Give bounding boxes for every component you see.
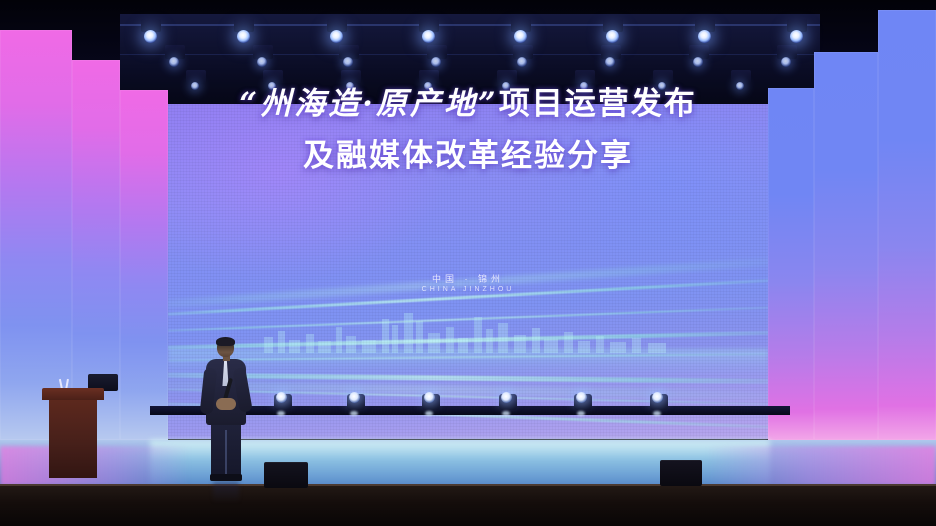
truss-light xyxy=(169,57,179,67)
stage-deck xyxy=(0,440,936,486)
stage-monitor xyxy=(264,462,308,488)
fixture-reflection xyxy=(277,411,285,416)
truss-light xyxy=(502,82,510,90)
fixture-reflection xyxy=(350,411,358,416)
fixture-reflection xyxy=(502,411,510,416)
right-led-panel xyxy=(814,52,878,440)
floor-wash-fixture xyxy=(572,392,594,412)
truss-light xyxy=(514,30,527,43)
presenter-hands xyxy=(216,398,236,410)
stage-front-edge xyxy=(0,484,936,526)
left-led-panel xyxy=(120,90,168,440)
left-led-panel xyxy=(0,30,72,440)
truss-light xyxy=(698,30,711,43)
truss-light xyxy=(658,82,666,90)
speaker-podium xyxy=(42,388,104,480)
fixture-lamp xyxy=(501,392,512,403)
presenter-hair xyxy=(216,337,235,346)
truss-light xyxy=(606,30,619,43)
podium-top xyxy=(42,388,104,400)
presenter-shoes xyxy=(210,474,242,481)
fixture-lamp xyxy=(652,392,663,403)
main-led-wall xyxy=(168,104,768,439)
truss-light xyxy=(431,57,441,67)
truss-light xyxy=(517,57,527,67)
floor-wash-fixture xyxy=(272,392,294,412)
truss-light xyxy=(191,82,199,90)
fixture-lamp xyxy=(576,392,587,403)
truss-light xyxy=(781,57,791,67)
fixture-lamp xyxy=(349,392,360,403)
stage-edge-highlight xyxy=(0,484,936,486)
truss-light xyxy=(736,82,744,90)
truss-light xyxy=(424,82,432,90)
led-pixel-grid xyxy=(168,104,768,439)
podium-body xyxy=(49,400,97,478)
truss-light xyxy=(422,30,435,43)
truss-light xyxy=(693,57,703,67)
truss-light xyxy=(268,82,276,90)
truss-light xyxy=(144,30,157,43)
truss-light xyxy=(330,30,343,43)
fixture-reflection xyxy=(653,411,661,416)
right-led-panel xyxy=(768,88,814,440)
truss-light xyxy=(343,57,353,67)
floor-wash-fixture xyxy=(345,392,367,412)
fixture-reflection xyxy=(425,411,433,416)
fixture-lamp xyxy=(276,392,287,403)
right-led-panel xyxy=(878,10,936,440)
fixture-reflection xyxy=(577,411,585,416)
overhead-truss xyxy=(120,14,820,110)
truss-light xyxy=(605,57,615,67)
presenter-with-microphone xyxy=(200,338,252,488)
stage-monitor xyxy=(660,460,702,486)
floor-wash-fixture xyxy=(648,392,670,412)
truss-light xyxy=(790,30,803,43)
stage-event-photo: “州海造·原产地”项目运营发布 及融媒体改革经验分享 中国 · 锦州 CHINA… xyxy=(0,0,936,526)
truss-light xyxy=(237,30,250,43)
truss-light xyxy=(257,57,267,67)
presenter-reflection xyxy=(213,481,239,503)
floor-wash-fixture xyxy=(420,392,442,412)
deck-glow-right xyxy=(706,446,936,486)
truss-light xyxy=(580,82,588,90)
floor-wash-fixture xyxy=(497,392,519,412)
fixture-lamp xyxy=(424,392,435,403)
truss-light xyxy=(346,82,354,90)
presenter-leg-split xyxy=(225,430,227,476)
